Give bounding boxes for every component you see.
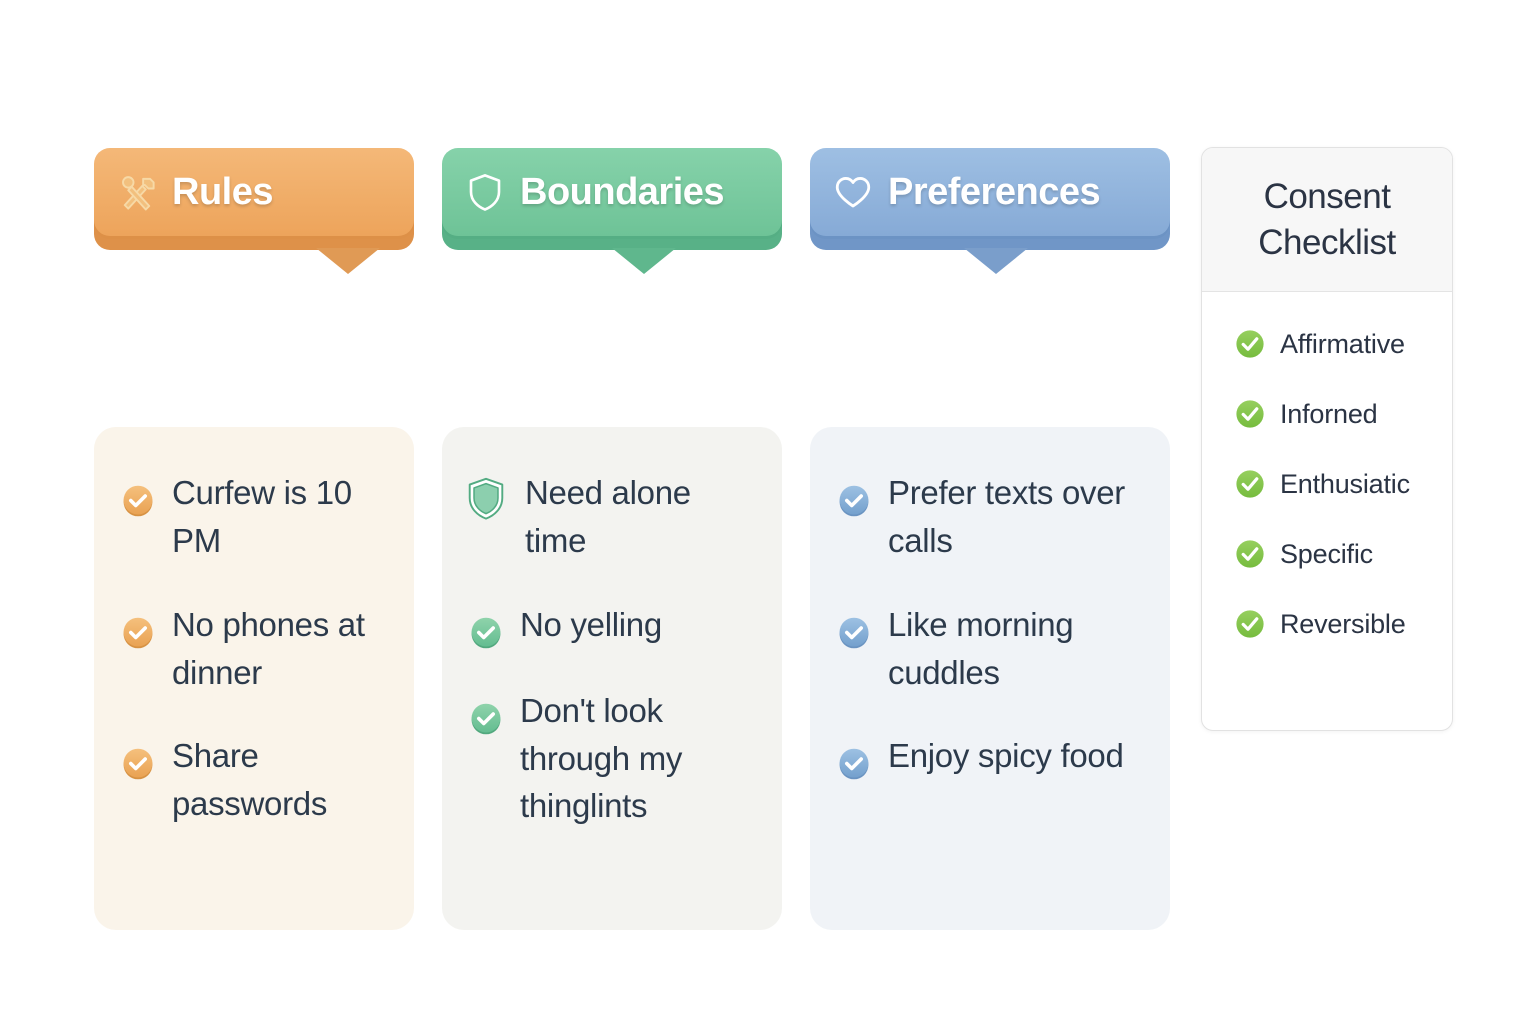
list-item-label: Specific [1280,539,1373,570]
list-item[interactable]: Enjoy spicy food [836,732,1144,782]
list-item[interactable]: Inforned [1234,398,1452,430]
rules-header-tail [316,248,380,274]
list-item-label: Enjoy spicy food [888,732,1124,780]
list-item[interactable]: No yelling [468,601,756,651]
list-item-label: Reversible [1280,609,1406,640]
list-item-label: Prefer texts over calls [888,469,1144,565]
column-boundaries: Boundaries Need alone time [442,148,782,236]
check-circle-icon [1234,398,1266,430]
list-item[interactable]: Need alone time [468,469,756,565]
consent-checklist-body: Affirmative Inforned Enthusiatic [1202,292,1452,640]
tools-icon [116,171,158,213]
list-item-label: Enthusiatic [1280,469,1410,500]
check-circle-icon [1234,538,1266,570]
check-circle-icon [836,746,872,782]
column-preferences: Preferences Prefer texts over calls [810,148,1170,236]
preferences-card: Prefer texts over calls Like morning cud… [810,427,1170,930]
list-item[interactable]: Specific [1234,538,1452,570]
consent-checklist-panel: Consent Checklist Affirmative Inforned [1201,147,1453,731]
list-item[interactable]: Like morning cuddles [836,601,1144,697]
check-circle-icon [120,615,156,651]
check-circle-icon [468,701,504,737]
rules-header[interactable]: Rules [94,148,414,236]
list-item[interactable]: Affirmative [1234,328,1452,360]
check-circle-icon [1234,608,1266,640]
shield-icon [463,475,509,521]
consent-checklist-title: Consent Checklist [1202,174,1452,265]
shield-icon [464,171,506,213]
list-item-label: No phones at dinner [172,601,388,697]
list-item-label: Share passwords [172,732,388,828]
list-item-label: Don't look through my thinglints [520,687,756,831]
boundaries-card: Need alone time No yelling [442,427,782,930]
list-item[interactable]: Don't look through my thinglints [468,687,756,831]
rules-card: Curfew is 10 PM No phones at dinner Shar… [94,427,414,930]
list-item-label: Inforned [1280,399,1377,430]
boundaries-header-tail [612,248,676,274]
check-circle-icon [120,483,156,519]
check-circle-icon [1234,328,1266,360]
canvas: Rules Curfew is 10 PM [0,0,1536,1024]
list-item[interactable]: Prefer texts over calls [836,469,1144,565]
rules-header-title: Rules [172,171,273,214]
check-circle-icon [1234,468,1266,500]
list-item[interactable]: Share passwords [120,732,388,828]
list-item[interactable]: Reversible [1234,608,1452,640]
column-rules: Rules Curfew is 10 PM [94,148,414,236]
list-item[interactable]: No phones at dinner [120,601,388,697]
check-circle-icon [468,615,504,651]
check-circle-icon [836,483,872,519]
check-circle-icon [120,746,156,782]
check-circle-icon [836,615,872,651]
list-item[interactable]: Enthusiatic [1234,468,1452,500]
consent-checklist-header: Consent Checklist [1202,148,1452,292]
heart-icon [832,171,874,213]
list-item[interactable]: Curfew is 10 PM [120,469,388,565]
list-item-label: Like morning cuddles [888,601,1144,697]
preferences-header[interactable]: Preferences [810,148,1170,236]
list-item-label: No yelling [520,601,662,649]
list-item-label: Curfew is 10 PM [172,469,388,565]
preferences-header-tail [964,248,1028,274]
list-item-label: Need alone time [525,469,756,565]
boundaries-header-title: Boundaries [520,171,724,214]
preferences-header-title: Preferences [888,171,1100,214]
list-item-label: Affirmative [1280,329,1405,360]
boundaries-header[interactable]: Boundaries [442,148,782,236]
